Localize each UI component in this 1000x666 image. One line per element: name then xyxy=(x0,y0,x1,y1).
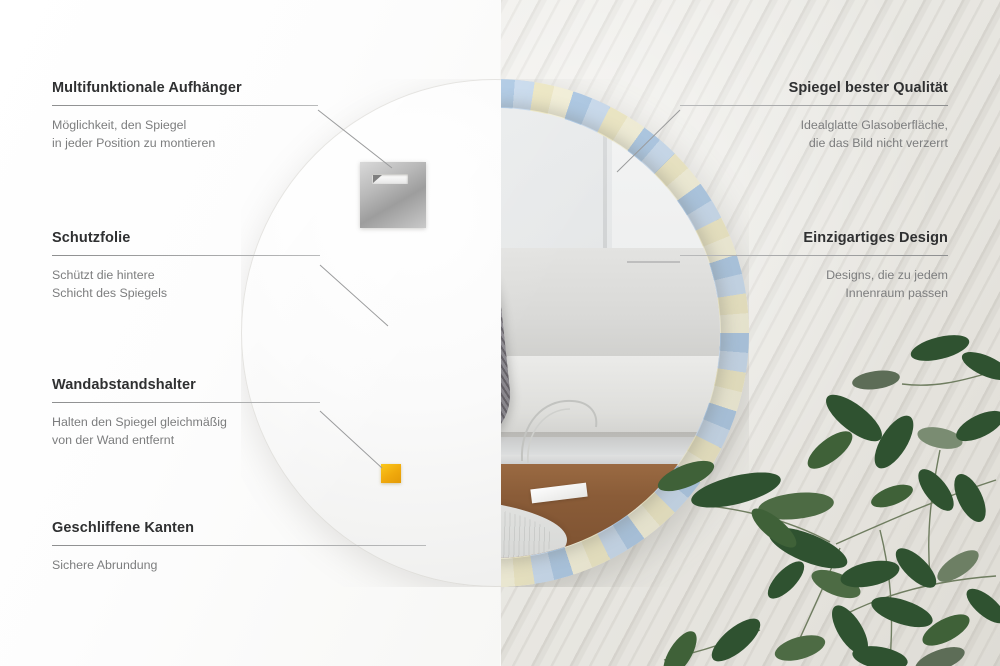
callout-body: Schützt die hintere Schicht des Spiegels xyxy=(52,267,320,302)
callout-body: Idealglatte Glasoberfläche, die das Bild… xyxy=(680,117,948,152)
callout-title: Spiegel bester Qualität xyxy=(680,80,948,96)
callout-rule xyxy=(52,545,426,546)
callout-title: Wandabstandshalter xyxy=(52,377,320,393)
callout-multifunktionale-aufhaenger: Multifunktionale Aufhänger Möglichkeit, … xyxy=(52,80,318,152)
callout-rule xyxy=(680,255,948,256)
callout-geschliffene-kanten: Geschliffene Kanten Sichere Abrundung xyxy=(52,520,426,575)
callout-rule xyxy=(52,105,318,106)
callout-body: Halten den Spiegel gleichmäßig von der W… xyxy=(52,414,320,449)
hanger-plate-icon xyxy=(360,162,426,228)
callout-body: Sichere Abrundung xyxy=(52,557,426,575)
callout-spiegel-bester-qualitaet: Spiegel bester Qualität Idealglatte Glas… xyxy=(680,80,948,152)
callout-title: Einzigartiges Design xyxy=(680,230,948,246)
callout-title: Multifunktionale Aufhänger xyxy=(52,80,318,96)
callout-einzigartiges-design: Einzigartiges Design Designs, die zu jed… xyxy=(680,230,948,302)
callout-body: Designs, die zu jedem Innenraum passen xyxy=(680,267,948,302)
wall-spacer-icon xyxy=(381,464,401,483)
callout-title: Geschliffene Kanten xyxy=(52,520,426,536)
infographic-canvas: Multifunktionale Aufhänger Möglichkeit, … xyxy=(0,0,1000,666)
callout-wandabstandshalter: Wandabstandshalter Halten den Spiegel gl… xyxy=(52,377,320,449)
callout-body: Möglichkeit, den Spiegel in jeder Positi… xyxy=(52,117,318,152)
callout-title: Schutzfolie xyxy=(52,230,320,246)
callout-rule xyxy=(680,105,948,106)
callout-rule xyxy=(52,255,320,256)
hanger-keyhole-slot xyxy=(372,174,408,184)
callout-schutzfolie: Schutzfolie Schützt die hintere Schicht … xyxy=(52,230,320,302)
callout-rule xyxy=(52,402,320,403)
